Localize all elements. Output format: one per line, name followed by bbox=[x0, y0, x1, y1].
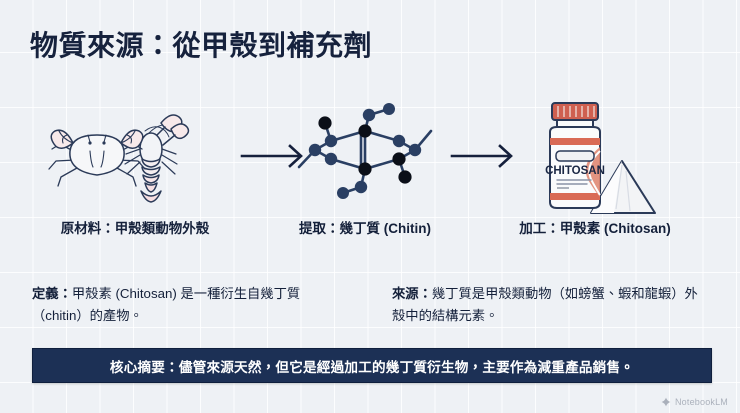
fact-definition: 定義：甲殼素 (Chitosan) 是一種衍生自幾丁質（chitin）的產物。 bbox=[32, 283, 342, 326]
flow-step-extraction: 提取：幾丁質 (Chitin) bbox=[265, 95, 465, 215]
chitin-molecule-diagram bbox=[265, 95, 465, 215]
flow-step-raw-material: 原材料：甲殼類動物外殼 bbox=[35, 95, 235, 215]
flow-step-processing: CHITOSAN 加工：甲殼素 (Chitosan) bbox=[495, 95, 695, 215]
crustacean-illustration bbox=[35, 95, 235, 215]
fact-label: 來源： bbox=[392, 286, 432, 301]
fact-label: 定義： bbox=[32, 286, 72, 301]
fact-source: 來源：幾丁質是甲殼類動物（如螃蟹、蝦和龍蝦）外殼中的結構元素。 bbox=[392, 283, 702, 326]
key-summary-banner: 核心摘要：儘管來源天然，但它是經過加工的幾丁質衍生物，主要作為減重產品銷售。 bbox=[32, 348, 712, 383]
flow-step-caption: 加工：甲殼素 (Chitosan) bbox=[495, 217, 695, 237]
bottle-label: CHITOSAN bbox=[545, 165, 605, 177]
watermark-label: NotebookLM bbox=[675, 397, 728, 407]
key-summary-text: 核心摘要：儘管來源天然，但它是經過加工的幾丁質衍生物，主要作為減重產品銷售。 bbox=[110, 356, 634, 376]
flow-step-caption: 提取：幾丁質 (Chitin) bbox=[265, 217, 465, 237]
supplement-bottle-illustration: CHITOSAN bbox=[495, 95, 695, 215]
page-title: 物質來源：從甲殼到補充劑 bbox=[30, 24, 372, 64]
notebooklm-watermark: NotebookLM bbox=[661, 397, 728, 407]
slide-canvas: 物質來源：從甲殼到補充劑 bbox=[0, 0, 740, 413]
fact-text: 甲殼素 (Chitosan) 是一種衍生自幾丁質（chitin）的產物。 bbox=[32, 286, 300, 323]
process-flow: 原材料：甲殼類動物外殼 bbox=[0, 95, 740, 245]
flow-step-caption: 原材料：甲殼類動物外殼 bbox=[35, 217, 235, 237]
notebooklm-logo-icon bbox=[661, 397, 671, 407]
fact-text: 幾丁質是甲殼類動物（如螃蟹、蝦和龍蝦）外殼中的結構元素。 bbox=[392, 286, 698, 323]
